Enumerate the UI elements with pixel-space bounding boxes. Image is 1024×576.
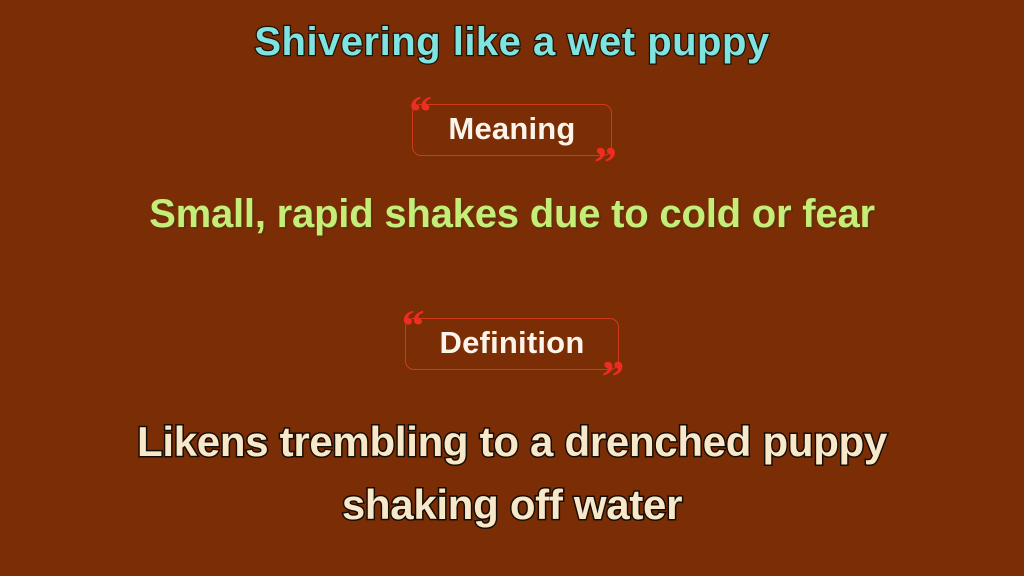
definition-body-text: Likens trembling to a drenched puppy sha… bbox=[0, 410, 1024, 536]
meaning-body-text: Small, rapid shakes due to cold or fear bbox=[0, 192, 1024, 236]
idiom-slide: Shivering like a wet puppy “ Meaning ” S… bbox=[0, 0, 1024, 576]
close-quote-icon: ” bbox=[601, 354, 624, 400]
page-title: Shivering like a wet puppy bbox=[0, 22, 1024, 62]
definition-body-line-2: shaking off water bbox=[0, 473, 1024, 536]
definition-badge-row: “ Definition ” bbox=[0, 318, 1024, 370]
close-quote-icon: ” bbox=[594, 140, 617, 186]
definition-badge: “ Definition ” bbox=[405, 318, 620, 370]
meaning-badge: “ Meaning ” bbox=[412, 104, 612, 156]
open-quote-icon: “ bbox=[402, 303, 425, 349]
definition-badge-label: Definition bbox=[440, 325, 585, 361]
definition-body-line-1: Likens trembling to a drenched puppy bbox=[0, 410, 1024, 473]
meaning-badge-row: “ Meaning ” bbox=[0, 104, 1024, 156]
open-quote-icon: “ bbox=[409, 89, 432, 135]
meaning-badge-label: Meaning bbox=[447, 111, 577, 147]
